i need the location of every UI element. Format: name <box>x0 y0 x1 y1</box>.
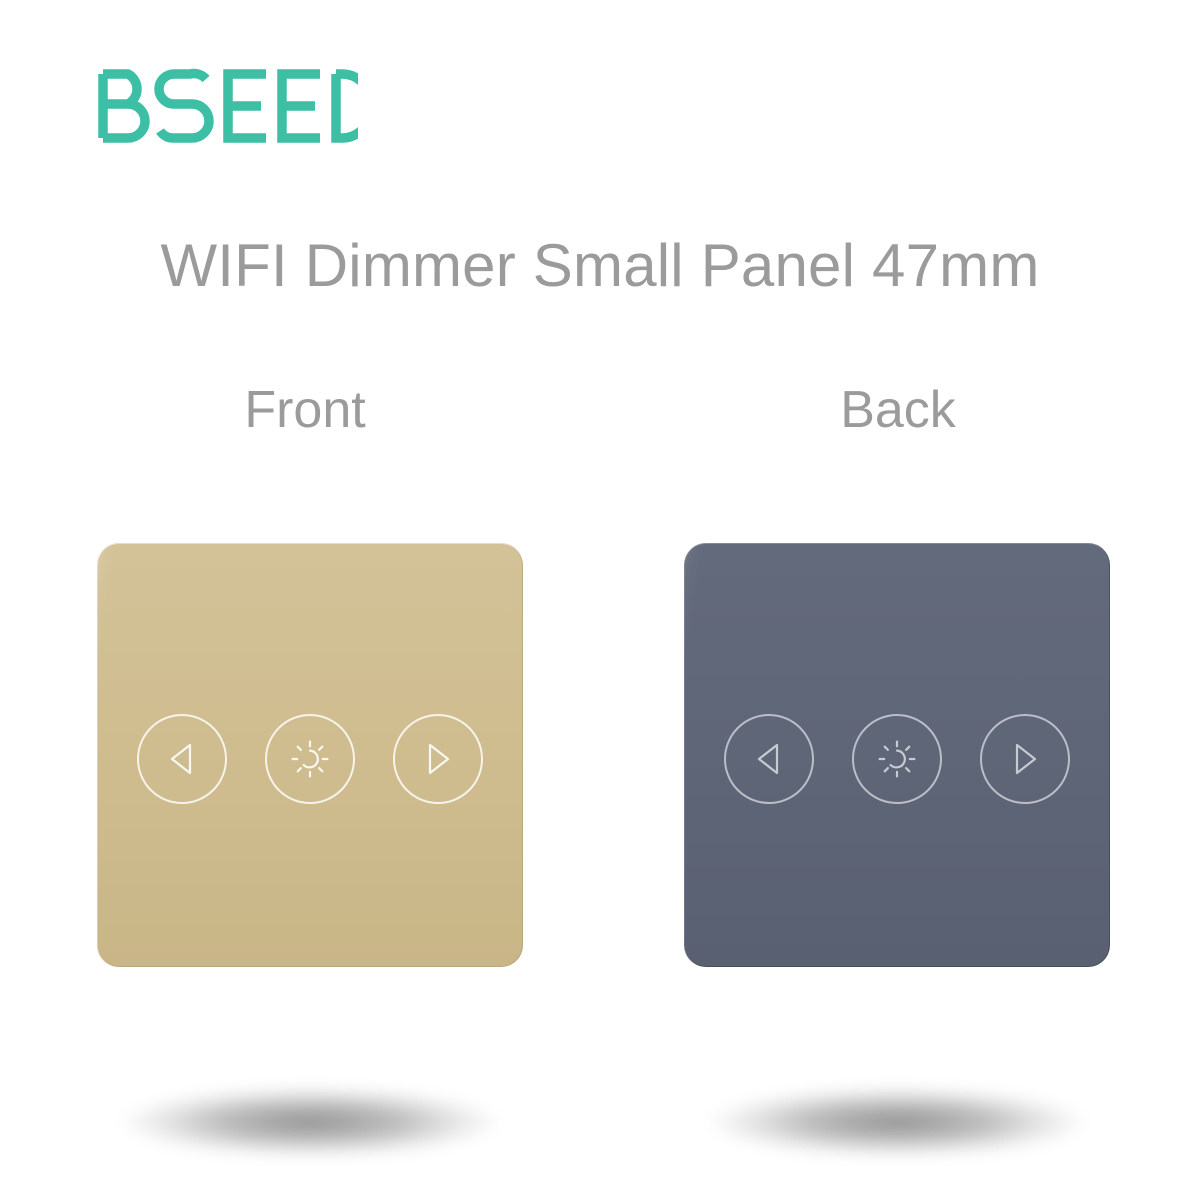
dimmer-increase-key-back[interactable] <box>980 714 1070 804</box>
bseed-logo <box>98 68 358 144</box>
view-label-front: Front <box>95 382 515 439</box>
triangle-right-icon <box>1004 738 1046 780</box>
view-label-back: Back <box>688 382 1108 439</box>
page-title: WIFI Dimmer Small Panel 47mm <box>0 234 1200 297</box>
dimmer-decrease-key-back[interactable] <box>724 714 814 804</box>
dimmer-panel-front <box>97 543 523 967</box>
brightness-toggle-key-back[interactable] <box>852 714 942 804</box>
panel-drop-shadow-back <box>663 1078 1131 1166</box>
triangle-left-icon <box>161 738 203 780</box>
triangle-right-icon <box>417 738 459 780</box>
dimmer-panel-back <box>684 543 1110 967</box>
dimmer-decrease-key-front[interactable] <box>137 714 227 804</box>
sun-brightness-icon <box>289 738 331 780</box>
dimmer-increase-key-front[interactable] <box>393 714 483 804</box>
product-view-front <box>97 543 523 967</box>
triangle-left-icon <box>748 738 790 780</box>
brightness-toggle-key-front[interactable] <box>265 714 355 804</box>
touch-key-row-front <box>97 711 523 807</box>
panel-drop-shadow-front <box>76 1078 544 1166</box>
touch-key-row-back <box>684 711 1110 807</box>
sun-brightness-icon <box>876 738 918 780</box>
product-view-back <box>684 543 1110 967</box>
